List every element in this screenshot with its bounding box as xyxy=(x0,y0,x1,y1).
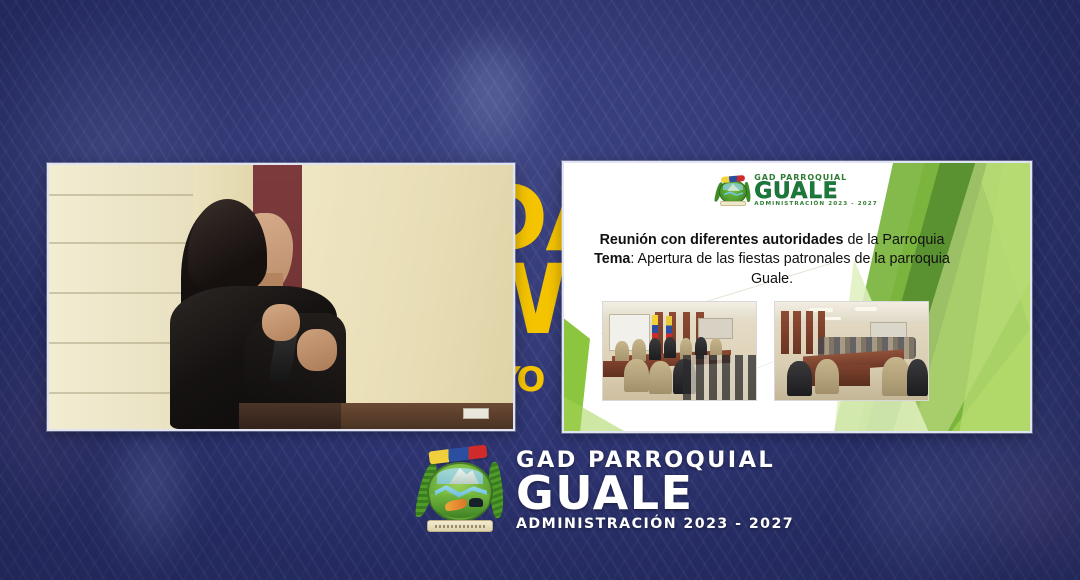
broadcast-stage: DA W AYO xyxy=(0,0,1080,580)
slide-heading-bold: Reunión con diferentes autoridades xyxy=(600,232,844,248)
podium-nameplate xyxy=(463,408,489,419)
speaker-hand-2 xyxy=(297,329,336,371)
slide-subject-text: : Apertura de las fiestas patronales de … xyxy=(630,251,950,286)
slide-logo-line-3: ADMINISTRACIÓN 2023 - 2027 xyxy=(754,202,877,208)
guale-coat-of-arms-icon xyxy=(415,446,507,534)
footer-brand-line-2: GUALE xyxy=(516,472,794,515)
speaker-hand xyxy=(262,304,299,341)
slide-subject-label: Tema xyxy=(594,251,630,267)
slide-heading-rest: de la Parroquia xyxy=(843,232,944,248)
slide-canvas: GAD PARROQUIAL GUALE ADMINISTRACIÓN 2023… xyxy=(564,163,1030,431)
footer-brand-words: GAD PARROQUIAL GUALE ADMINISTRACIÓN 2023… xyxy=(516,449,794,531)
footer-brand-line-3: ADMINISTRACIÓN 2023 - 2027 xyxy=(516,517,794,531)
slide-logo-line-2: GUALE xyxy=(754,182,877,202)
slide-photo-left xyxy=(602,301,757,401)
slide-logo-words: GAD PARROQUIAL GUALE ADMINISTRACIÓN 2023… xyxy=(754,174,877,208)
podium-front xyxy=(239,403,341,429)
presentation-slide-panel[interactable]: GAD PARROQUIAL GUALE ADMINISTRACIÓN 2023… xyxy=(562,161,1032,433)
slide-logo: GAD PARROQUIAL GUALE ADMINISTRACIÓN 2023… xyxy=(564,174,1030,208)
guale-crest-icon xyxy=(716,176,750,206)
auditorium-scene xyxy=(49,165,513,429)
slide-photo-right xyxy=(774,301,929,401)
video-feed-panel[interactable] xyxy=(47,163,515,431)
slide-photo-row xyxy=(602,301,929,401)
slide-body-text: Reunión con diferentes autoridades de la… xyxy=(572,231,972,289)
footer-brand-logo: GAD PARROQUIAL GUALE ADMINISTRACIÓN 2023… xyxy=(415,446,794,534)
